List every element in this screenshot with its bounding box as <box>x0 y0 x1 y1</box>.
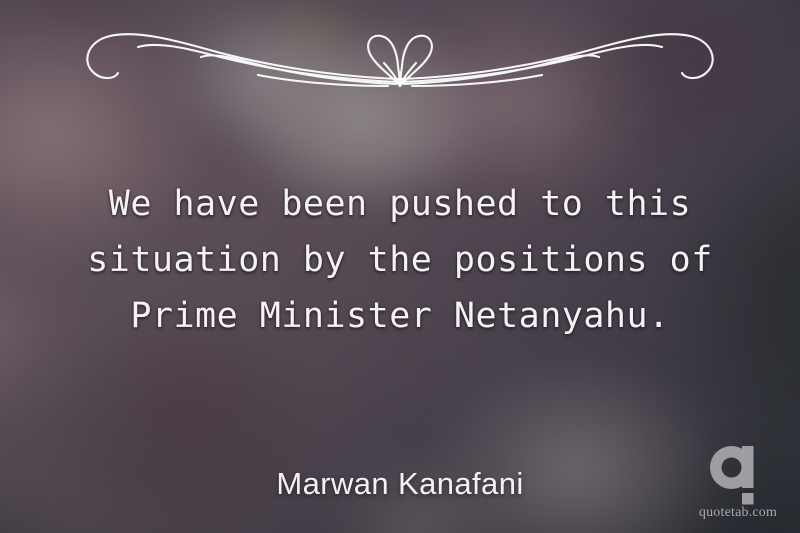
logo-text: quotetab.com <box>690 506 786 520</box>
quote-author: Marwan Kanafani <box>0 466 800 502</box>
quotetab-logo[interactable]: quotetab.com <box>690 443 786 525</box>
quotetab-q-icon <box>707 443 769 505</box>
quote-text: We have been pushed to this situation by… <box>0 176 800 344</box>
quote-card: We have been pushed to this situation by… <box>0 0 800 533</box>
